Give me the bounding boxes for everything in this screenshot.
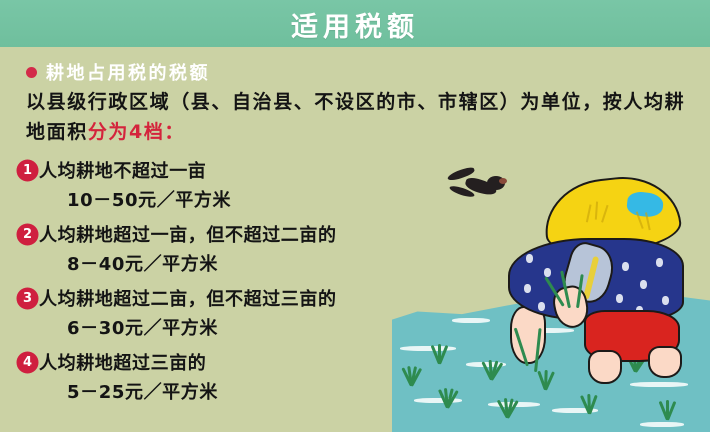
tax-tier-item: 1 人均耕地不超过一亩 10－50元／平方米 (18, 155, 488, 217)
tier-number-badge: 4 (18, 353, 37, 372)
farmer-leg-front-2 (648, 346, 682, 378)
tax-tier-list: 1 人均耕地不超过一亩 10－50元／平方米 2 人均耕地超过一亩，但不超过二亩… (18, 155, 488, 411)
tax-tier-header: 1 人均耕地不超过一亩 (18, 155, 488, 185)
tier-number-badge: 2 (18, 225, 37, 244)
tier-rate-value: 6－30元／平方米 (67, 313, 488, 345)
rice-seedling (496, 392, 518, 418)
water-wave (640, 422, 684, 427)
tax-tier-header: 2 人均耕地超过一亩，但不超过二亩的 (18, 219, 488, 249)
intro-paragraph-highlight: 分为4档： (88, 121, 185, 143)
slide-adaptive-tax-amount: 适用税额 (0, 0, 710, 432)
tax-tier-item: 3 人均耕地超过二亩，但不超过三亩的 6－30元／平方米 (18, 283, 488, 345)
tier-rate-value: 5－25元／平方米 (67, 377, 488, 409)
tier-number-badge: 1 (18, 161, 37, 180)
tier-number-badge: 3 (18, 289, 37, 308)
tax-tier-header: 4 人均耕地超过三亩的 (18, 347, 488, 377)
intro-paragraph: 以县级行政区域（县、自治县、不设区的市、市辖区）为单位，按人均耕地面积分为4档： (26, 87, 686, 147)
tier-condition-label: 人均耕地不超过一亩 (39, 157, 206, 183)
tier-condition-label: 人均耕地超过三亩的 (39, 349, 206, 375)
farmer-leg-front (588, 350, 622, 384)
tax-tier-item: 2 人均耕地超过一亩，但不超过二亩的 8－40元／平方米 (18, 219, 488, 281)
tier-rate-value: 10－50元／平方米 (67, 185, 488, 217)
tax-tier-header: 3 人均耕地超过二亩，但不超过三亩的 (18, 283, 488, 313)
tier-condition-label: 人均耕地超过一亩，但不超过二亩的 (39, 221, 337, 247)
tax-tier-item: 4 人均耕地超过三亩的 5－25元／平方米 (18, 347, 488, 409)
section-heading: 耕地占用税的税额 (46, 59, 210, 85)
tier-condition-label: 人均耕地超过二亩，但不超过三亩的 (39, 285, 337, 311)
rice-seedling (656, 394, 678, 420)
page-title: 适用税额 (0, 5, 710, 44)
farmer-figure (492, 160, 702, 390)
section-heading-row: 耕地占用税的税额 (26, 59, 210, 85)
tier-rate-value: 8－40元／平方米 (67, 249, 488, 281)
rice-seedling (578, 388, 600, 414)
red-dot-bullet-icon (26, 67, 37, 78)
